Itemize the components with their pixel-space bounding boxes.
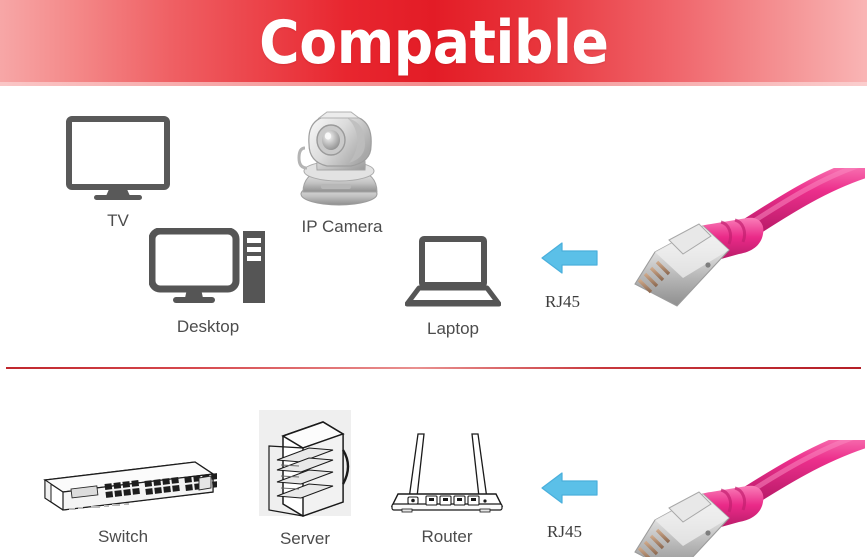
device-label-router: Router [382,527,512,547]
device-desktop: Desktop [140,228,276,337]
section-divider [6,367,861,369]
device-label-desktop: Desktop [140,317,276,337]
rj45-label-top: RJ45 [545,292,580,312]
device-label-server: Server [255,529,355,549]
rj45-label-bottom: RJ45 [547,522,582,542]
device-tv: TV [50,116,186,231]
header-banner: Compatible [0,0,867,86]
network-switch-icon [28,452,218,523]
device-server: Server [255,408,355,549]
server-rack-icon [255,408,355,525]
compatibility-diagram: Compatible TV [0,0,867,557]
device-ip-camera: IP Camera [280,108,404,237]
device-router: Router [382,420,512,547]
arrow-left-icon [540,238,600,283]
desktop-icon [140,228,276,313]
device-switch: Switch [28,452,218,547]
wifi-router-icon [382,420,512,523]
device-label-switch: Switch [28,527,218,547]
device-label-ip-camera: IP Camera [280,217,404,237]
arrow-left-icon-bottom [540,468,600,513]
ethernet-cable-pink-top [625,168,865,318]
tv-icon [50,116,186,207]
device-label-laptop: Laptop [394,319,512,339]
ethernet-cable-pink-bottom [625,440,865,557]
laptop-icon [394,236,512,315]
page-title: Compatible [259,13,608,73]
device-laptop: Laptop [394,236,512,339]
ip-camera-icon [280,108,404,213]
